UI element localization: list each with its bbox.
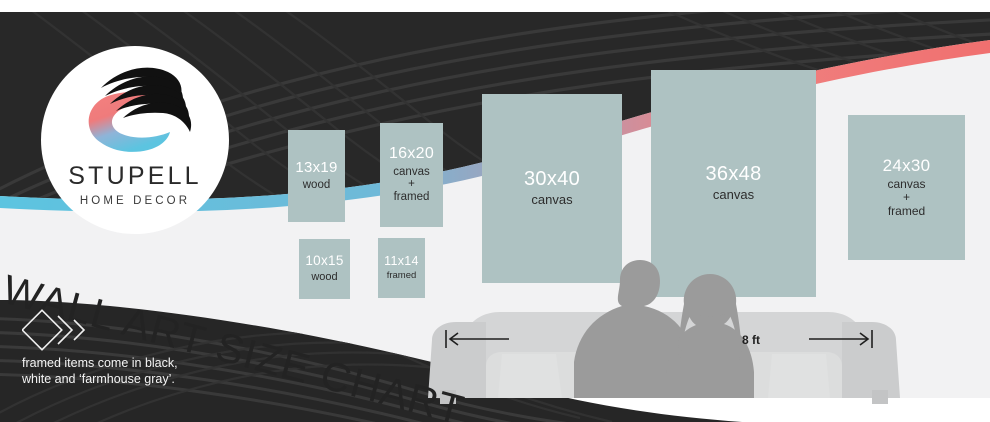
right-arrow-with-end-bar-icon xyxy=(809,330,872,348)
diamond-chevron-icon xyxy=(22,308,98,352)
footnote-text: framed items come in black, white and ‘f… xyxy=(22,355,178,387)
wall-art-size-chart-infographic: WALL ART SIZE CHART framed items come in… xyxy=(0,0,990,422)
footnote-line-1: framed items come in black, xyxy=(22,355,178,371)
brand-logo-badge: STUPELL HOME DECOR xyxy=(41,46,229,234)
measurement-label: 8 ft xyxy=(742,333,760,347)
brand-tagline: HOME DECOR xyxy=(41,196,229,208)
footnote-line-2: white and ‘farmhouse gray’. xyxy=(22,371,178,387)
left-arrow-with-end-bar-icon xyxy=(446,330,509,348)
stupell-s-swoosh-logo-icon xyxy=(74,64,196,169)
brand-name: STUPELL xyxy=(41,164,229,189)
